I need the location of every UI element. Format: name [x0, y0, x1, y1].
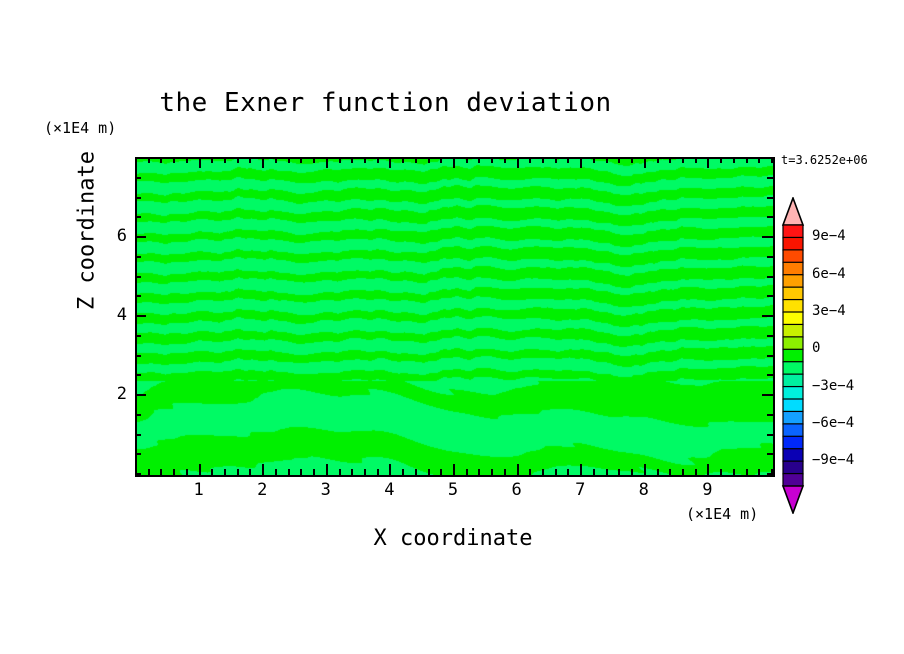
timestamp-annotation: t=3.6252e+06 [781, 153, 868, 167]
y-axis-minor-tick [135, 335, 141, 337]
colorbar-tick-label: −6e−4 [812, 415, 854, 431]
x-axis-tick-label: 7 [560, 480, 600, 500]
y-axis-minor-tick [135, 177, 141, 179]
x-axis-minor-tick [669, 469, 671, 475]
x-axis-minor-tick [300, 469, 302, 475]
y-axis-minor-tick [135, 414, 141, 416]
y-axis-tick-label: 6 [99, 226, 127, 246]
y-axis-minor-tick-right [767, 434, 773, 436]
x-axis-minor-tick [249, 469, 251, 475]
colorbar-band [783, 275, 803, 288]
x-axis-minor-tick [313, 469, 315, 475]
x-axis-major-tick [326, 464, 328, 475]
y-axis-major-tick-right [762, 236, 773, 238]
x-axis-minor-tick-top [364, 157, 366, 163]
x-axis-minor-tick-top [542, 157, 544, 163]
x-axis-minor-tick [275, 469, 277, 475]
colorbar-band [783, 449, 803, 462]
y-axis-major-tick [135, 394, 146, 396]
x-axis-tick-label: 4 [369, 480, 409, 500]
y-axis-minor-tick [135, 374, 141, 376]
x-axis-minor-tick [440, 469, 442, 475]
x-axis-minor-tick-top [173, 157, 175, 163]
x-axis-minor-tick-top [237, 157, 239, 163]
y-axis-minor-tick-right [767, 216, 773, 218]
x-axis-minor-tick-top [428, 157, 430, 163]
y-axis-title: Z coordinate [75, 131, 100, 331]
colorbar-band [783, 237, 803, 250]
x-axis-minor-tick [173, 469, 175, 475]
x-axis-minor-tick [377, 469, 379, 475]
x-axis-minor-tick-top [758, 157, 760, 163]
x-axis-minor-tick [682, 469, 684, 475]
x-axis-minor-tick-top [593, 157, 595, 163]
x-axis-tick-label: 1 [179, 480, 219, 500]
x-axis-minor-tick [593, 469, 595, 475]
x-axis-minor-tick-top [402, 157, 404, 163]
colorbar-tick-label: 6e−4 [812, 266, 846, 282]
x-axis-minor-tick-top [504, 157, 506, 163]
colorbar-tick-label: 0 [812, 340, 820, 356]
x-axis-minor-tick [415, 469, 417, 475]
x-axis-minor-tick-top [440, 157, 442, 163]
x-axis-minor-tick-top [160, 157, 162, 163]
y-axis-minor-tick-right [767, 374, 773, 376]
contour-field [137, 159, 773, 475]
x-axis-minor-tick-top [313, 157, 315, 163]
x-axis-minor-tick [567, 469, 569, 475]
x-axis-major-tick [580, 464, 582, 475]
colorbar-band [783, 424, 803, 437]
x-axis-major-tick-top [389, 157, 391, 168]
x-axis-minor-tick [657, 469, 659, 475]
y-axis-minor-tick-right [767, 177, 773, 179]
x-axis-tick-label: 2 [242, 480, 282, 500]
y-axis-major-tick-right [762, 315, 773, 317]
x-axis-minor-tick [211, 469, 213, 475]
x-axis-minor-tick [339, 469, 341, 475]
x-axis-minor-tick-top [669, 157, 671, 163]
y-axis-minor-tick-right [767, 453, 773, 455]
x-axis-major-tick-top [580, 157, 582, 168]
x-axis-tick-label: 3 [306, 480, 346, 500]
x-axis-minor-tick-top [491, 157, 493, 163]
y-axis-minor-tick-right [767, 335, 773, 337]
colorbar-band [783, 337, 803, 350]
x-axis-minor-tick [224, 469, 226, 475]
x-axis-minor-tick-top [682, 157, 684, 163]
x-axis-minor-tick-top [288, 157, 290, 163]
x-axis-major-tick [644, 464, 646, 475]
colorbar-band [783, 399, 803, 412]
x-axis-minor-tick-top [377, 157, 379, 163]
colorbar-band [783, 300, 803, 313]
x-axis-major-tick-top [453, 157, 455, 168]
x-axis-minor-tick-top [415, 157, 417, 163]
y-axis-minor-tick-right [767, 295, 773, 297]
x-axis-minor-tick [542, 469, 544, 475]
x-axis-minor-tick [186, 469, 188, 475]
x-axis-minor-tick-top [618, 157, 620, 163]
y-axis-major-tick [135, 236, 146, 238]
x-axis-minor-tick-top [746, 157, 748, 163]
colorbar-band [783, 225, 803, 238]
x-axis-minor-tick-top [478, 157, 480, 163]
x-axis-minor-tick [695, 469, 697, 475]
x-axis-minor-tick [288, 469, 290, 475]
colorbar-tick-label: −9e−4 [812, 452, 854, 468]
colorbar-under-cap [783, 486, 803, 513]
x-axis-minor-tick [351, 469, 353, 475]
x-axis-major-tick [453, 464, 455, 475]
y-axis-minor-tick [135, 355, 141, 357]
x-axis-minor-tick-top [300, 157, 302, 163]
y-axis-minor-tick [135, 216, 141, 218]
colorbar-band [783, 349, 803, 362]
y-axis-tick-label: 4 [99, 305, 127, 325]
y-axis-minor-tick [135, 256, 141, 258]
x-axis-major-tick [517, 464, 519, 475]
x-axis-major-tick-top [517, 157, 519, 168]
colorbar-band [783, 250, 803, 263]
x-axis-minor-tick [402, 469, 404, 475]
y-axis-minor-tick-right [767, 197, 773, 199]
colorbar-tick-label: −3e−4 [812, 378, 854, 394]
colorbar-band [783, 411, 803, 424]
x-axis-major-tick-top [199, 157, 201, 168]
y-axis-minor-tick-right [767, 355, 773, 357]
y-axis-minor-tick [135, 157, 141, 159]
x-axis-minor-tick-top [720, 157, 722, 163]
x-axis-minor-tick-top [567, 157, 569, 163]
x-axis-minor-tick [555, 469, 557, 475]
y-axis-minor-tick-right [767, 256, 773, 258]
x-axis-major-tick-top [707, 157, 709, 168]
x-axis-minor-tick [758, 469, 760, 475]
x-axis-title: X coordinate [135, 526, 771, 551]
x-axis-minor-tick [733, 469, 735, 475]
x-axis-minor-tick-top [186, 157, 188, 163]
x-axis-minor-tick [529, 469, 531, 475]
x-axis-minor-tick [720, 469, 722, 475]
y-axis-minor-tick [135, 453, 141, 455]
x-axis-minor-tick [478, 469, 480, 475]
x-axis-minor-tick [618, 469, 620, 475]
x-axis-tick-label: 5 [433, 480, 473, 500]
x-axis-major-tick-top [326, 157, 328, 168]
y-axis-minor-tick [135, 276, 141, 278]
x-axis-minor-tick-top [631, 157, 633, 163]
y-axis-minor-tick-right [767, 414, 773, 416]
x-axis-minor-tick [364, 469, 366, 475]
x-axis-minor-tick-top [224, 157, 226, 163]
x-axis-tick-label: 8 [624, 480, 664, 500]
x-axis-minor-tick [746, 469, 748, 475]
colorbar-band [783, 387, 803, 400]
y-axis-major-tick [135, 315, 146, 317]
y-axis-tick-label: 2 [99, 384, 127, 404]
x-axis-minor-tick-top [657, 157, 659, 163]
x-axis-minor-tick-top [529, 157, 531, 163]
x-axis-minor-tick [504, 469, 506, 475]
x-axis-minor-tick [606, 469, 608, 475]
x-axis-minor-tick-top [249, 157, 251, 163]
x-axis-major-tick-top [262, 157, 264, 168]
x-axis-major-tick [262, 464, 264, 475]
colorbar-tick-label: 9e−4 [812, 228, 846, 244]
x-axis-minor-tick-top [555, 157, 557, 163]
colorbar [781, 197, 805, 514]
y-axis-minor-tick-right [767, 276, 773, 278]
x-axis-minor-tick-top [339, 157, 341, 163]
x-axis-major-tick [389, 464, 391, 475]
y-axis-minor-tick [135, 197, 141, 199]
x-axis-minor-tick-top [351, 157, 353, 163]
x-axis-units-label: (×1E4 m) [686, 505, 758, 523]
x-axis-minor-tick [631, 469, 633, 475]
y-axis-minor-tick [135, 434, 141, 436]
x-axis-minor-tick-top [695, 157, 697, 163]
x-axis-minor-tick-top [148, 157, 150, 163]
x-axis-minor-tick-top [733, 157, 735, 163]
x-axis-minor-tick-top [606, 157, 608, 163]
x-axis-minor-tick-top [211, 157, 213, 163]
contour-plot-area [135, 157, 775, 477]
colorbar-band [783, 474, 803, 487]
x-axis-major-tick [199, 464, 201, 475]
colorbar-band [783, 436, 803, 449]
x-axis-minor-tick [466, 469, 468, 475]
y-axis-major-tick-right [762, 394, 773, 396]
colorbar-band [783, 324, 803, 337]
x-axis-minor-tick-top [275, 157, 277, 163]
page-title: the Exner function deviation [0, 88, 771, 118]
x-axis-minor-tick-top [466, 157, 468, 163]
x-axis-minor-tick [491, 469, 493, 475]
colorbar-band [783, 312, 803, 325]
y-axis-minor-tick [135, 473, 141, 475]
colorbar-band [783, 262, 803, 275]
colorbar-band [783, 362, 803, 375]
y-axis-minor-tick-right [767, 157, 773, 159]
colorbar-band [783, 287, 803, 300]
colorbar-band [783, 461, 803, 474]
colorbar-svg [781, 197, 805, 514]
x-axis-minor-tick [237, 469, 239, 475]
x-axis-minor-tick [428, 469, 430, 475]
x-axis-minor-tick [160, 469, 162, 475]
colorbar-tick-label: 3e−4 [812, 303, 846, 319]
x-axis-tick-label: 6 [497, 480, 537, 500]
y-axis-minor-tick [135, 295, 141, 297]
colorbar-band [783, 374, 803, 387]
x-axis-minor-tick [148, 469, 150, 475]
x-axis-tick-label: 9 [687, 480, 727, 500]
colorbar-over-cap [783, 198, 803, 225]
x-axis-major-tick [707, 464, 709, 475]
x-axis-major-tick-top [644, 157, 646, 168]
y-axis-minor-tick-right [767, 473, 773, 475]
